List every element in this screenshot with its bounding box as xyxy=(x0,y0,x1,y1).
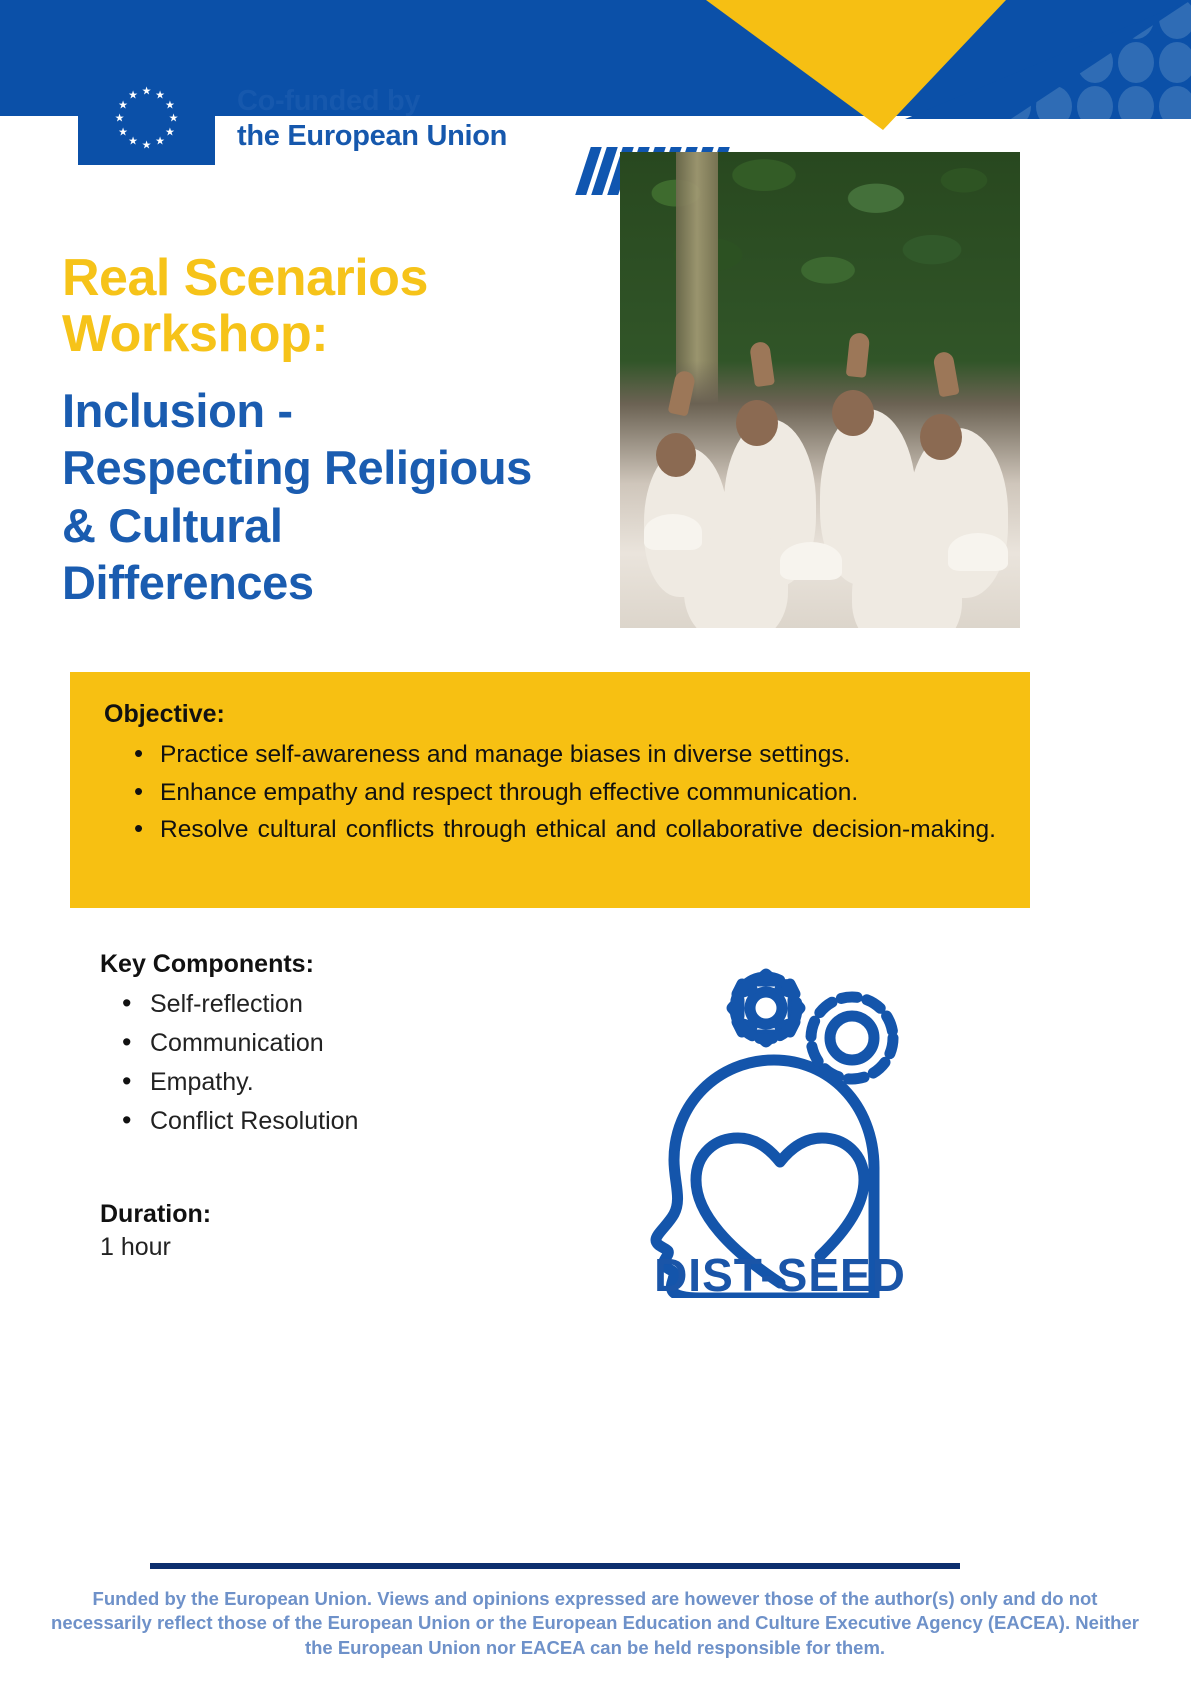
decorative-dot xyxy=(1118,86,1154,119)
cofunded-line-2: the European Union xyxy=(237,119,507,154)
funding-disclaimer: Funded by the European Union. Views and … xyxy=(45,1587,1145,1660)
eu-star-icon: ★ xyxy=(155,137,165,148)
decorative-dot xyxy=(1159,86,1191,119)
eu-cofunded-text: Co-funded by the European Union xyxy=(237,84,507,155)
key-components-section: Key Components: Self-reflection Communic… xyxy=(100,950,570,1141)
objective-heading: Objective: xyxy=(104,700,996,729)
title-blue-line-3: & Cultural xyxy=(62,497,662,554)
photo-person-head xyxy=(920,414,962,460)
eu-star-icon: ★ xyxy=(118,127,128,138)
eu-star-icon: ★ xyxy=(165,100,175,111)
dist-seed-wordmark: DIST-SEED xyxy=(600,1248,960,1302)
key-component-item: Communication xyxy=(120,1024,570,1063)
eu-star-icon: ★ xyxy=(128,137,138,148)
eu-star-icon: ★ xyxy=(118,100,128,111)
objective-item: Enhance empathy and respect through effe… xyxy=(130,775,996,811)
objective-panel: Objective: Practice self-awareness and m… xyxy=(70,672,1030,908)
eu-star-icon: ★ xyxy=(165,127,175,138)
title-blue-line-2: Respecting Religious xyxy=(62,439,662,496)
objective-item: Practice self-awareness and manage biase… xyxy=(130,737,996,773)
eu-flag-icon: ★★★★★★★★★★★★ xyxy=(78,73,215,165)
cofunded-line-1: Co-funded by xyxy=(237,84,507,119)
decorative-dot xyxy=(1159,42,1191,83)
eu-star-icon: ★ xyxy=(128,90,138,101)
eu-star-icon: ★ xyxy=(142,87,152,98)
duration-heading: Duration: xyxy=(100,1200,460,1229)
key-components-list: Self-reflection Communication Empathy. C… xyxy=(120,985,570,1141)
objective-list: Practice self-awareness and manage biase… xyxy=(130,737,996,883)
eu-cofunded-logo: ★★★★★★★★★★★★ Co-funded by the European U… xyxy=(78,73,507,165)
eu-star-icon: ★ xyxy=(155,90,165,101)
eu-star-icon: ★ xyxy=(169,114,179,125)
gear-icon xyxy=(811,997,893,1079)
decorative-dot xyxy=(1077,86,1113,119)
duration-value: 1 hour xyxy=(100,1233,460,1262)
key-components-heading: Key Components: xyxy=(100,950,570,979)
photo-person-head xyxy=(832,390,874,436)
title-yellow-line-2: Workshop: xyxy=(62,306,622,362)
title-blue-line-4: Differences xyxy=(62,554,662,611)
photo-headband xyxy=(780,542,842,580)
eu-star-icon: ★ xyxy=(142,141,152,152)
objective-item: Resolve cultural conflicts through ethic… xyxy=(130,812,996,883)
key-component-item: Empathy. xyxy=(120,1063,570,1102)
gear-icon xyxy=(732,974,800,1042)
workshop-photo xyxy=(620,152,1020,628)
photo-headband xyxy=(948,533,1008,571)
title-blue-line-1: Inclusion - xyxy=(62,382,662,439)
decorative-dot xyxy=(1118,42,1154,83)
key-component-item: Self-reflection xyxy=(120,985,570,1024)
duration-section: Duration: 1 hour xyxy=(100,1200,460,1262)
title-yellow-line-1: Real Scenarios xyxy=(62,250,622,306)
key-component-item: Conflict Resolution xyxy=(120,1102,570,1141)
photo-person-head xyxy=(656,433,696,477)
eu-star-icon: ★ xyxy=(115,114,125,125)
page-title-primary: Real Scenarios Workshop: xyxy=(62,250,622,362)
page-title-secondary: Inclusion - Respecting Religious & Cultu… xyxy=(62,382,662,611)
footer-divider xyxy=(150,1563,960,1569)
photo-person-head xyxy=(736,400,778,446)
